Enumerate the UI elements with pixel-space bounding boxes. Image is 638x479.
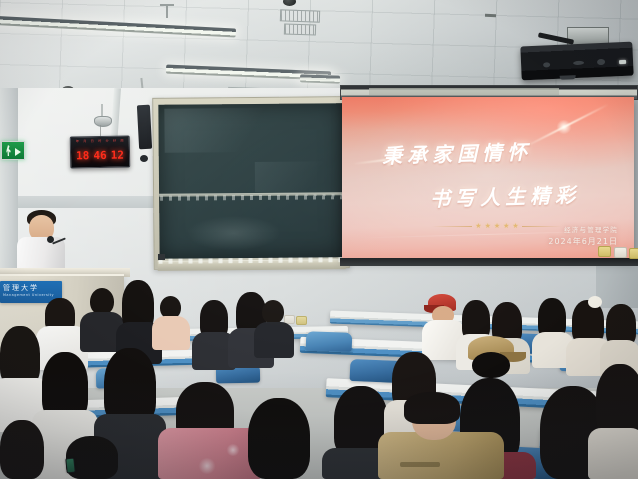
slide-sparkle-1 <box>556 119 572 135</box>
slide-star-divider: ★ ★ ★ ★ ★ <box>432 221 562 231</box>
ceiling-vent-1 <box>280 9 320 22</box>
star-icon-5: ★ <box>512 223 518 230</box>
projection-screen: 秉承家国情怀 书写人生精彩 ★ ★ ★ ★ ★ 经济与管理学院 2024年6月2… <box>342 97 634 260</box>
lecture-hall-photo: 年 月 日 时 分 秒 周 18 46 12 <box>0 0 638 479</box>
hoodie-graphic-2 <box>226 444 240 456</box>
blackboard-surface <box>158 103 343 259</box>
led-clock-display: 年 月 日 时 分 秒 周 18 46 12 <box>70 135 131 168</box>
podium-plaque-chinese: 管理大学 <box>3 283 39 293</box>
microphone-icon <box>47 236 54 243</box>
ceiling-fixture-small <box>485 14 496 17</box>
slide-credit-block: 经济与管理学院 2024年6月21日 <box>548 226 618 248</box>
ceiling-projector <box>520 42 633 81</box>
hair-scrunchie <box>588 296 602 308</box>
star-icon-2: ★ <box>485 223 491 230</box>
led-digit-group-0: 18 <box>76 150 89 161</box>
wall-outlet-2 <box>614 247 627 258</box>
led-digit-group-1: 46 <box>93 149 106 160</box>
blackboard-erased-marks <box>187 216 279 251</box>
wall-outlet-5 <box>296 316 307 325</box>
projection-screen-bottom-bar <box>340 258 638 266</box>
star-icon-3: ★ <box>494 223 500 230</box>
led-clock-labels: 年 月 日 时 分 秒 周 <box>74 139 126 146</box>
ceiling-hanger-rod <box>166 5 168 18</box>
chair-back-1 <box>306 331 353 352</box>
blackboard <box>152 96 349 270</box>
podium-plaque-english: Management University <box>3 293 54 297</box>
ceiling-hanger-bar <box>160 4 174 6</box>
jacket-text-strip <box>400 462 440 467</box>
hoodie-graphic-1 <box>198 458 216 474</box>
smartphone-icon <box>65 458 76 474</box>
led-digit-group-2: 12 <box>111 149 124 160</box>
led-label-1: 月 <box>83 141 86 144</box>
led-label-6: 周 <box>120 140 123 143</box>
emergency-exit-sign-icon <box>1 141 25 160</box>
led-label-0: 年 <box>76 141 79 144</box>
wall-hook <box>158 254 165 260</box>
wall-outlet-3 <box>629 248 638 259</box>
led-label-2: 日 <box>91 140 94 143</box>
led-clock-digits: 18 46 12 <box>74 147 126 164</box>
slide-title-line-1: 秉承家国情怀 <box>382 136 533 169</box>
star-icon-1: ★ <box>475 223 481 230</box>
wall-speaker <box>137 105 152 150</box>
ceiling-vent-2 <box>284 23 316 35</box>
led-label-5: 秒 <box>113 140 116 143</box>
slide-organization: 经济与管理学院 <box>548 226 618 236</box>
slide-title-line-2: 书写人生精彩 <box>430 179 581 212</box>
ceiling-light-fixture-3 <box>300 74 340 83</box>
led-label-4: 分 <box>105 140 108 143</box>
wall-outlet-1 <box>598 246 611 257</box>
led-label-3: 时 <box>98 140 101 143</box>
wall-camera-icon <box>94 116 112 127</box>
star-icon-4: ★ <box>503 223 509 230</box>
star-divider-line-left <box>432 226 472 227</box>
wall-speaker-knob <box>140 155 148 162</box>
